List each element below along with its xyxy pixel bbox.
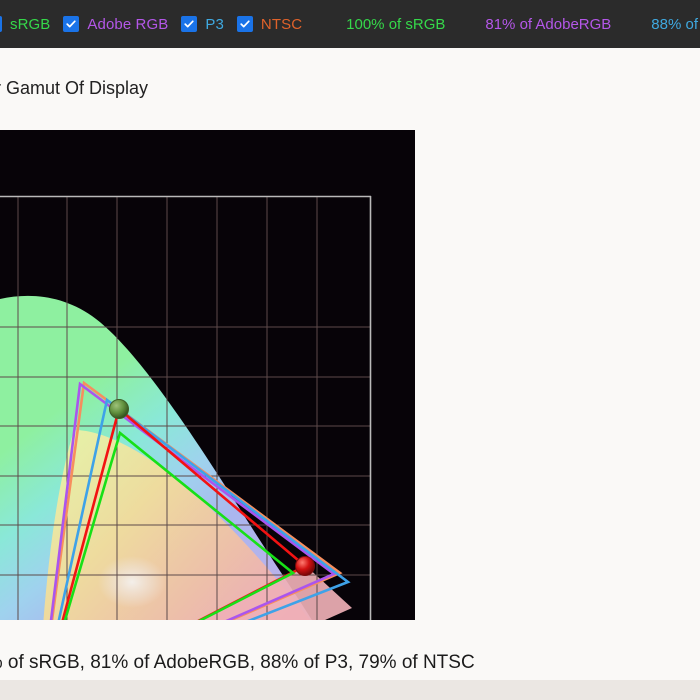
checkbox-srgb[interactable]: [0, 16, 2, 32]
footer-strip: [0, 680, 700, 700]
checkbox-group-ntsc[interactable]: NTSC: [237, 16, 302, 33]
cie-chromaticity-chart: datacolor 0.1 0.2 0.3 0.4: [0, 130, 415, 620]
checkbox-label-p3: P3: [205, 16, 224, 33]
checkbox-group-p3[interactable]: P3: [181, 16, 224, 33]
checkbox-label-ntsc: NTSC: [261, 16, 302, 33]
checkbox-adobergb[interactable]: [63, 16, 79, 32]
gamut-toolbar: sRGB Adobe RGB P3 NT: [0, 0, 700, 48]
marker-green-primary: [110, 400, 129, 419]
checkbox-p3[interactable]: [181, 16, 197, 32]
checkbox-ntsc[interactable]: [237, 16, 253, 32]
coverage-value-p3: 88% of P3: [651, 16, 700, 33]
whitepoint-glow: [98, 556, 166, 608]
checkbox-group-adobergb[interactable]: Adobe RGB: [63, 16, 168, 33]
checkbox-label-srgb: sRGB: [10, 16, 50, 33]
page-title: Color Gamut Of Display: [0, 78, 148, 99]
gamut-summary-text: 100% of sRGB, 81% of AdobeRGB, 88% of P3…: [0, 652, 475, 674]
marker-red-primary: [296, 557, 315, 576]
checkbox-group-srgb[interactable]: sRGB: [0, 16, 50, 33]
chart-canvas: datacolor 0.1 0.2 0.3 0.4: [0, 130, 415, 620]
color-gamut-report: sRGB Adobe RGB P3 NT: [0, 0, 700, 700]
checkbox-label-adobergb: Adobe RGB: [87, 16, 168, 33]
report-body: Color Gamut Of Display: [0, 48, 700, 700]
coverage-value-srgb: 100% of sRGB: [346, 16, 445, 33]
coverage-value-adobergb: 81% of AdobeRGB: [485, 16, 611, 33]
